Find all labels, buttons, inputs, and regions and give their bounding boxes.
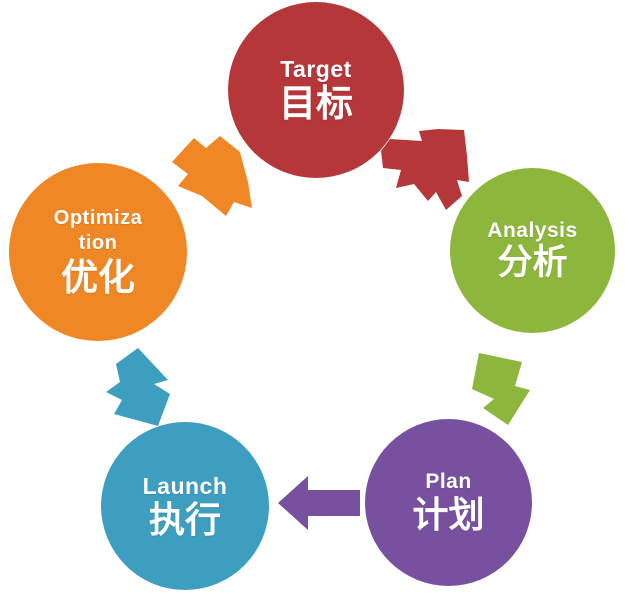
- cycle-node-launch-label-zh: 执行: [149, 501, 221, 539]
- cycle-node-launch[interactable]: Launch 执行: [101, 422, 269, 590]
- arrow-optimization-to-target-icon: [168, 130, 258, 220]
- cycle-node-target[interactable]: Target 目标: [228, 2, 404, 178]
- cycle-node-analysis-label-en: Analysis: [487, 220, 577, 242]
- arrow-plan-to-launch-icon: [276, 470, 362, 536]
- arrow-target-to-analysis-icon: [378, 126, 474, 218]
- cycle-node-analysis[interactable]: Analysis 分析: [450, 168, 615, 333]
- arrow-launch-to-optimization-icon: [100, 344, 188, 432]
- cycle-node-optimization[interactable]: Optimiza tion 优化: [9, 163, 187, 341]
- cycle-diagram-canvas: Target 目标 Analysis 分析 Plan 计划 Launch 执行 …: [0, 0, 625, 598]
- cycle-node-launch-label-en: Launch: [143, 474, 228, 498]
- cycle-node-plan-label-zh: 计划: [412, 496, 484, 534]
- arrow-optimization-to-target[interactable]: [168, 130, 258, 220]
- cycle-node-plan-label-en: Plan: [425, 471, 471, 493]
- cycle-node-analysis-label-zh: 分析: [497, 245, 567, 282]
- cycle-node-plan[interactable]: Plan 计划: [365, 419, 532, 586]
- cycle-node-target-label-en: Target: [280, 57, 352, 81]
- arrow-plan-to-launch[interactable]: [276, 470, 362, 536]
- arrow-target-to-analysis[interactable]: [378, 126, 474, 218]
- cycle-node-optimization-label-zh: 优化: [61, 259, 135, 298]
- cycle-node-target-label-zh: 目标: [279, 85, 353, 124]
- cycle-node-optimization-label-en: Optimiza tion: [54, 206, 142, 256]
- arrow-launch-to-optimization[interactable]: [100, 344, 188, 432]
